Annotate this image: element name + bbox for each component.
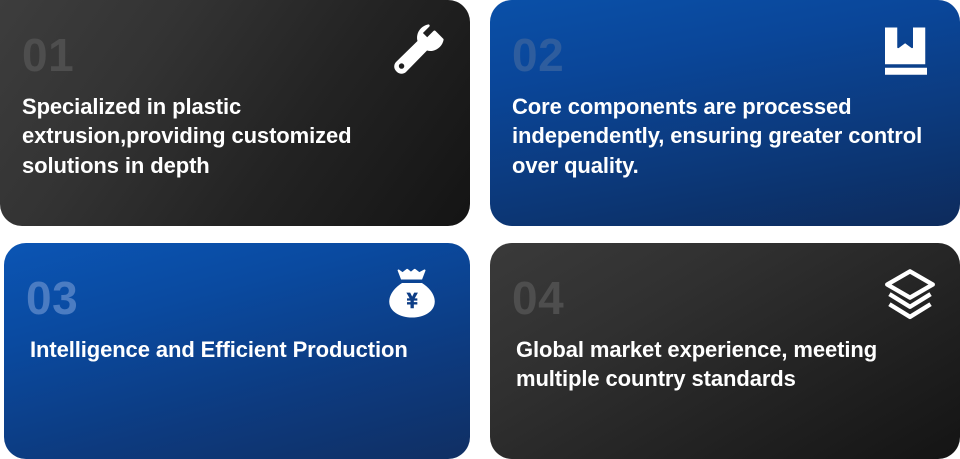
feature-card-03[interactable]: 03 Intelligence and Efficient Production (4, 243, 470, 459)
card-text-01: Specialized in plastic extrusion,providi… (22, 92, 444, 180)
card-text-03: Intelligence and Efficient Production (30, 335, 444, 364)
card-number-03: 03 (26, 275, 444, 321)
card-number-04: 04 (512, 275, 934, 321)
card-text-04: Global market experience, meeting multip… (516, 335, 934, 394)
feature-card-02[interactable]: 02 Core components are processed indepen… (490, 0, 960, 226)
book-bookmark-icon (878, 24, 934, 80)
layers-stack-icon (882, 267, 938, 323)
card-number-01: 01 (22, 32, 444, 78)
feature-card-01[interactable]: 01 Specialized in plastic extrusion,prov… (0, 0, 470, 226)
card-number-02: 02 (512, 32, 934, 78)
money-bag-yen-icon (384, 265, 440, 321)
card-text-02: Core components are processed independen… (512, 92, 934, 180)
feature-card-grid: 01 Specialized in plastic extrusion,prov… (0, 0, 960, 459)
wrench-icon (388, 24, 444, 80)
feature-card-04[interactable]: 04 Global market experience, meeting mul… (490, 243, 960, 459)
